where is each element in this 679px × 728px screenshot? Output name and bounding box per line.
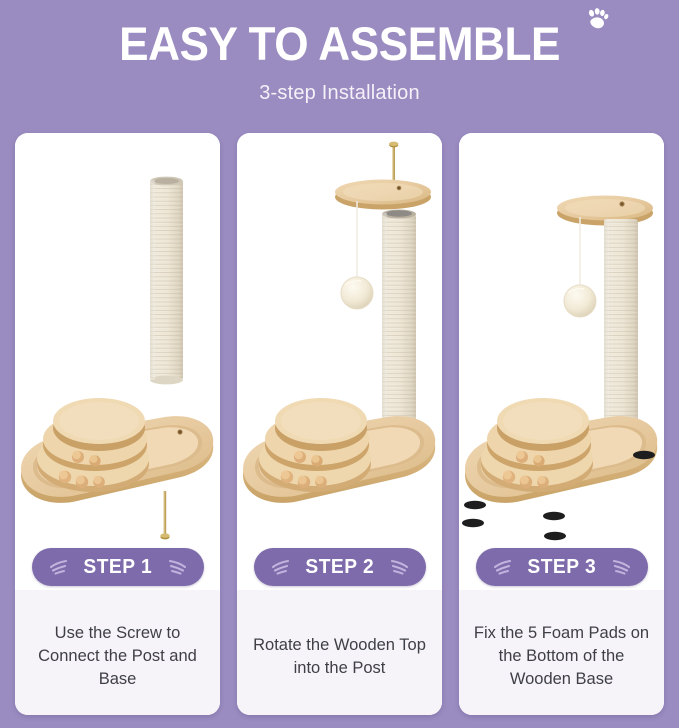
step-1-badge-label: STEP 1 [83, 556, 152, 579]
step-2-badge[interactable]: STEP 2 [254, 548, 426, 586]
sisal-scratching-post [150, 177, 183, 385]
step-card-1[interactable]: STEP 1 Use the Screw to Connect the Post… [15, 133, 220, 715]
header-banner: EASY TO ASSEMBLE 3-step Installation [0, 0, 679, 122]
step-1-badge[interactable]: STEP 1 [32, 548, 204, 586]
page-subtitle: 3-step Installation [0, 82, 679, 105]
wooden-top-plate [335, 180, 431, 210]
step-card-3[interactable]: STEP 3 Fix the 5 Foam Pads on the Bottom… [459, 133, 664, 715]
step-2-image [237, 133, 442, 590]
brass-screw [389, 142, 398, 182]
step-2-caption: Rotate the Wooden Top into the Post [237, 590, 442, 715]
step-card-2[interactable]: STEP 2 Rotate the Wooden Top into the Po… [237, 133, 442, 715]
step-3-badge[interactable]: STEP 3 [476, 548, 648, 586]
flourish-left-icon [493, 558, 513, 576]
sisal-scratching-post [604, 219, 638, 428]
paw-print-icon [583, 8, 609, 34]
step-3-image [459, 133, 664, 590]
steps-container: STEP 1 Use the Screw to Connect the Post… [0, 133, 679, 716]
flourish-left-icon [49, 558, 69, 576]
wooden-turntable-base [21, 398, 213, 503]
pom-pom-ball [341, 201, 373, 309]
page-title: EASY TO ASSEMBLE [119, 18, 560, 70]
step-3-badge-label: STEP 3 [527, 556, 596, 579]
flourish-right-icon [611, 558, 631, 576]
step-3-caption-text: Fix the 5 Foam Pads on the Bottom of the… [471, 622, 652, 691]
flourish-right-icon [167, 558, 187, 576]
step-1-caption-text: Use the Screw to Connect the Post and Ba… [27, 622, 208, 691]
step-2-caption-text: Rotate the Wooden Top into the Post [249, 634, 430, 680]
flourish-left-icon [271, 558, 291, 576]
title-row: EASY TO ASSEMBLE [0, 18, 679, 70]
step-1-illustration [15, 133, 220, 590]
step-1-caption: Use the Screw to Connect the Post and Ba… [15, 590, 220, 715]
brass-screw [160, 491, 169, 539]
step-2-badge-label: STEP 2 [305, 556, 374, 579]
pom-pom-ball [564, 217, 596, 317]
step-3-illustration [459, 133, 664, 590]
step-2-illustration [237, 133, 442, 590]
sisal-scratching-post [382, 210, 416, 428]
infographic-page: EASY TO ASSEMBLE 3-step Installation [0, 0, 679, 728]
step-1-image [15, 133, 220, 590]
step-3-caption: Fix the 5 Foam Pads on the Bottom of the… [459, 590, 664, 715]
flourish-right-icon [389, 558, 409, 576]
